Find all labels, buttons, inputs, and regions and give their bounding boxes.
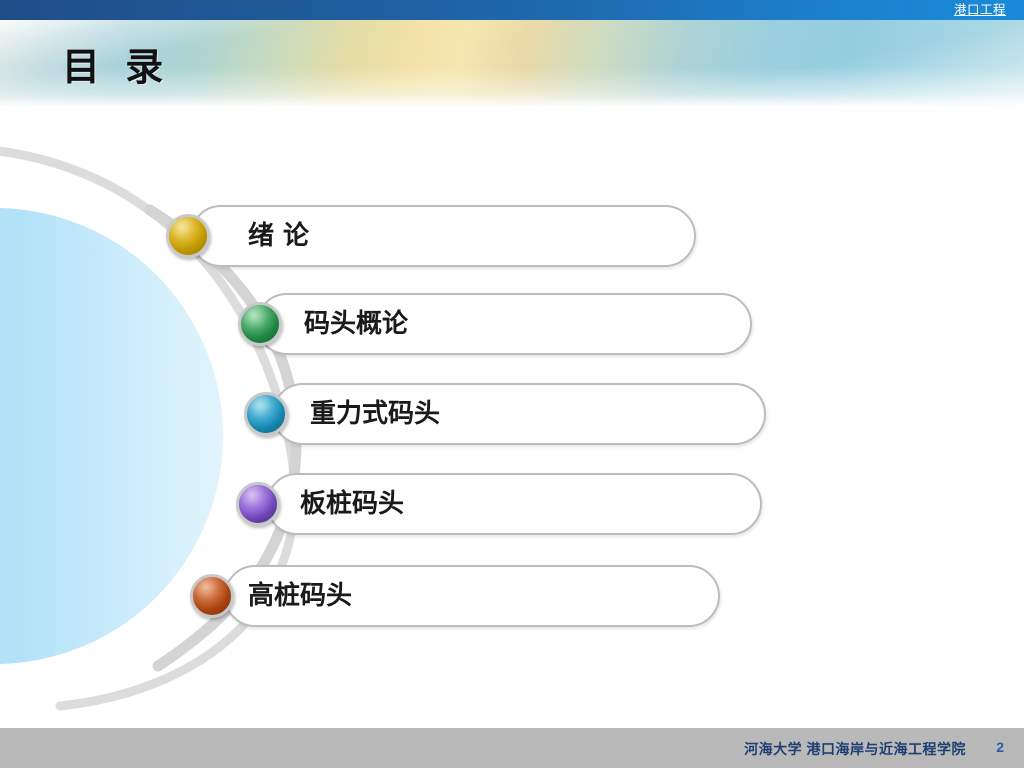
page-title: 目 录 — [62, 36, 169, 91]
toc-item-2[interactable]: 码头概论 — [256, 293, 752, 357]
toc-label-3: 重力式码头 — [310, 383, 440, 445]
toc-item-1[interactable]: 绪 论 — [190, 205, 696, 269]
toc-label-5: 高桩码头 — [248, 565, 352, 627]
bullet-gloss — [169, 217, 207, 255]
toc-label-4: 板桩码头 — [300, 473, 404, 535]
bullet-gloss — [239, 485, 277, 523]
bullet-orange-icon — [190, 574, 234, 618]
footer-bar: 河海大学 港口海岸与近海工程学院 2 — [0, 728, 1024, 768]
toc-item-4[interactable]: 板桩码头 — [266, 473, 762, 537]
top-blue-strip: 港口工程 — [0, 0, 1024, 20]
bullet-gloss — [247, 395, 285, 433]
slide-body: 绪 论 码头概论 重力式码头 — [0, 106, 1024, 724]
bullet-green-icon — [238, 302, 282, 346]
bullet-teal-icon — [244, 392, 288, 436]
footer-page-number: 2 — [996, 739, 1004, 755]
footer-organization: 河海大学 港口海岸与近海工程学院 — [744, 739, 966, 759]
toc-label-2: 码头概论 — [304, 293, 408, 355]
bullet-gold-icon — [166, 214, 210, 258]
toc-item-5[interactable]: 高桩码头 — [224, 565, 720, 629]
bullet-gloss — [241, 305, 279, 343]
course-title-label: 港口工程 — [954, 1, 1006, 19]
bullet-purple-icon — [236, 482, 280, 526]
toc-list: 绪 论 码头概论 重力式码头 — [0, 106, 1024, 724]
toc-item-3[interactable]: 重力式码头 — [272, 383, 766, 447]
toc-label-1: 绪 论 — [248, 205, 309, 267]
bullet-gloss — [193, 577, 231, 615]
slide-root: 港口工程 目 录 — [0, 0, 1024, 768]
